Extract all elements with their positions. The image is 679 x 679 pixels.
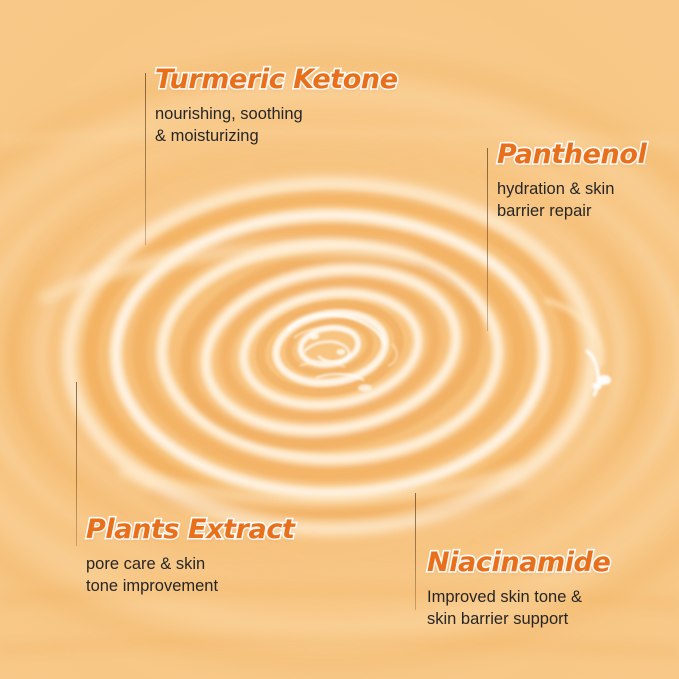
callout-text-turmeric-ketone: Turmeric Ketone nourishing, soothing & m… [155,66,398,148]
lead-line-turmeric-ketone [145,73,146,245]
ingredient-infographic-poster: Turmeric Ketone nourishing, soothing & m… [0,0,679,679]
callout-text-niacinamide: Niacinamide Improved skin tone & skin ba… [427,549,610,631]
callout-text-panthenol: Panthenol hydration & skin barrier repai… [497,141,646,223]
ingredient-description-panthenol: hydration & skin barrier repair [497,179,646,223]
callout-text-plants-extract: Plants Extract pore care & skin tone imp… [86,516,294,598]
ingredient-description-plants-extract: pore care & skin tone improvement [86,554,294,598]
ingredient-title-niacinamide: Niacinamide [427,549,610,576]
ingredient-title-panthenol: Panthenol [497,141,646,168]
ingredient-title-turmeric-ketone: Turmeric Ketone [155,66,398,93]
lead-line-plants-extract [76,382,77,546]
lead-line-niacinamide [415,493,416,610]
lead-line-panthenol [487,148,488,331]
ingredient-title-plants-extract: Plants Extract [86,516,294,543]
ingredient-description-turmeric-ketone: nourishing, soothing & moisturizing [155,104,398,148]
ingredient-description-niacinamide: Improved skin tone & skin barrier suppor… [427,587,610,631]
